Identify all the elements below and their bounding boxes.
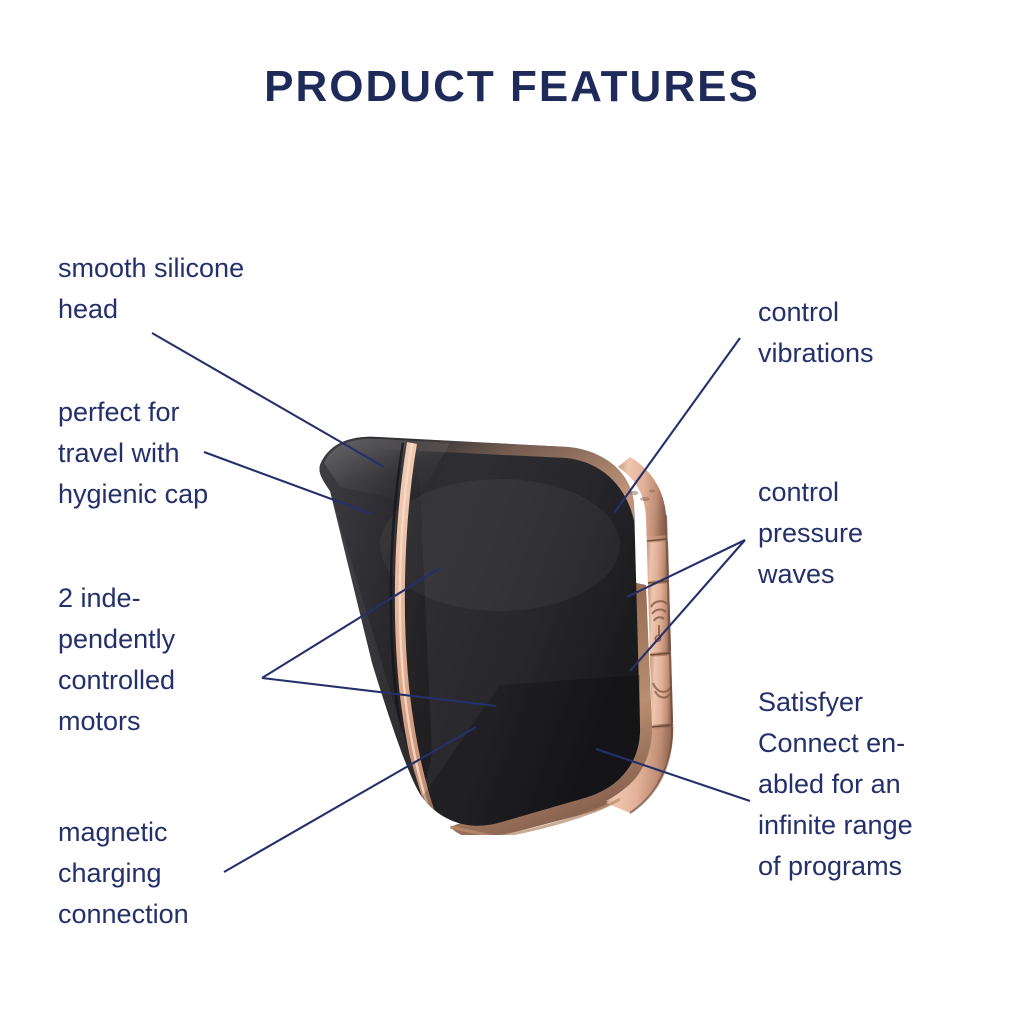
callout-control-vibrations: control vibrations bbox=[758, 292, 998, 374]
product-svg bbox=[300, 425, 700, 835]
page-title: PRODUCT FEATURES bbox=[0, 62, 1024, 112]
callout-magnetic-charging: magnetic charging connection bbox=[58, 812, 308, 935]
product-features-infographic: PRODUCT FEATURES bbox=[0, 0, 1024, 1024]
callout-satisfyer-connect: Satisfyer Connect en- abled for an infin… bbox=[758, 682, 1003, 887]
callout-smooth-silicone-head: smooth silicone head bbox=[58, 248, 358, 330]
callout-two-motors: 2 inde- pendently controlled motors bbox=[58, 578, 308, 742]
callout-control-pressure-waves: control pressure waves bbox=[758, 472, 998, 595]
silicone-body bbox=[319, 437, 640, 826]
callout-perfect-for-travel: perfect for travel with hygienic cap bbox=[58, 392, 318, 515]
product-illustration bbox=[300, 425, 700, 835]
